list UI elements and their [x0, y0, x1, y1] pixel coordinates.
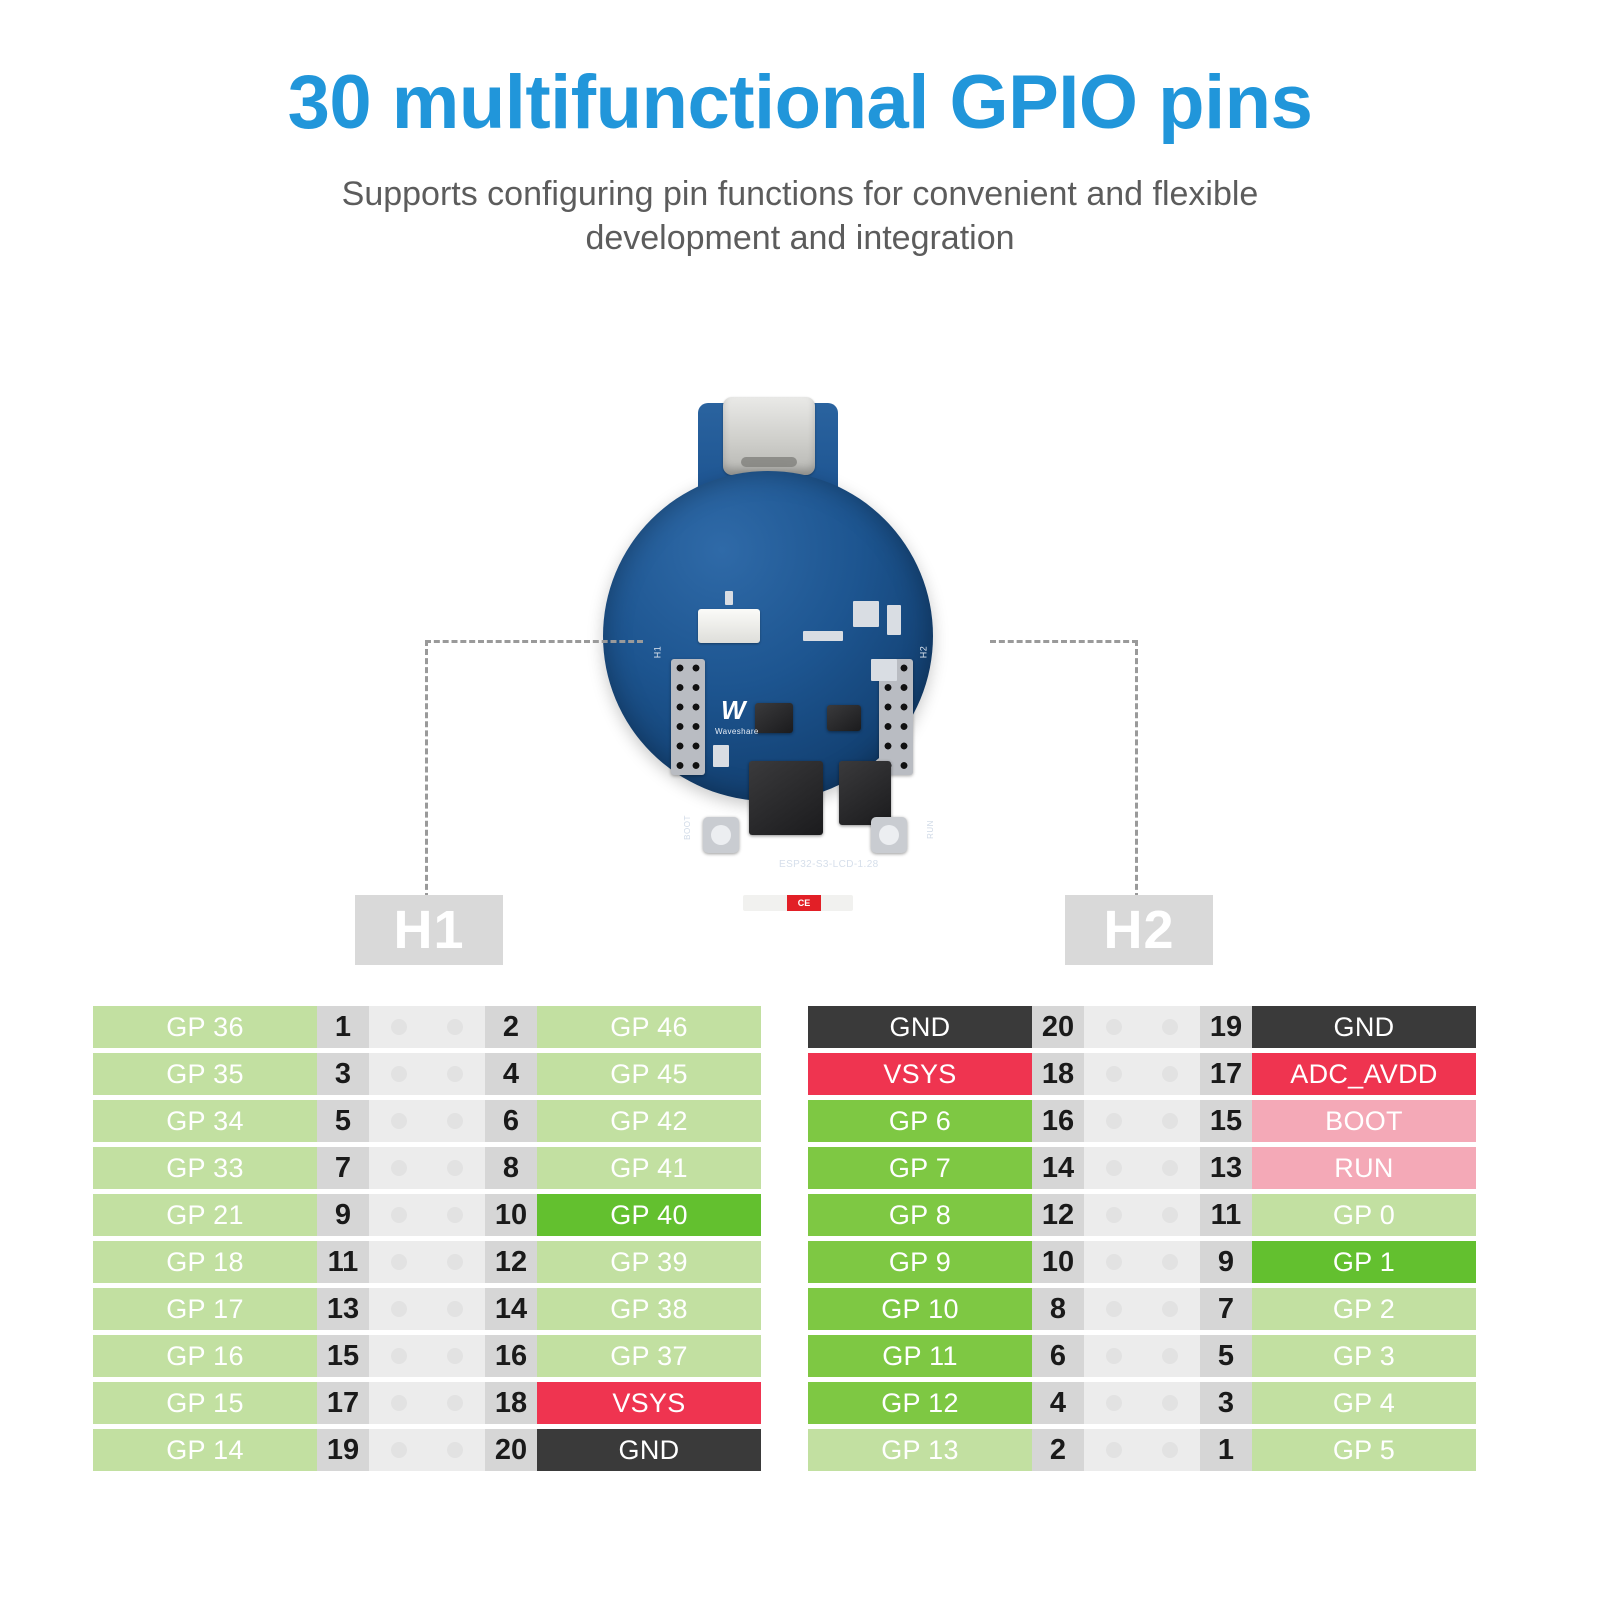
pin-header-strip: [1084, 1194, 1200, 1236]
silkscreen-model-name: ESP32-S3-LCD-1.28: [779, 859, 879, 870]
pin-label-left: GP 6: [808, 1100, 1032, 1142]
header-h1-pins: [671, 659, 705, 775]
pin-number-left: 16: [1032, 1100, 1084, 1142]
pin-header-strip: [369, 1147, 485, 1189]
pin-number-left: 18: [1032, 1053, 1084, 1095]
pin-number-right: 11: [1200, 1194, 1252, 1236]
pin-number-left: 13: [317, 1288, 369, 1330]
pin-number-left: 7: [317, 1147, 369, 1189]
pin-label-left: GP 14: [93, 1429, 317, 1471]
smd-part-3: [853, 601, 879, 627]
pin-label-right: GND: [1252, 1006, 1476, 1048]
pin-label-right: GP 40: [537, 1194, 761, 1236]
smd-part-1: [725, 591, 733, 605]
table-row: GP 141920GND: [93, 1429, 761, 1471]
label-h1: H1: [355, 895, 503, 965]
pin-label-right: ADC_AVDD: [1252, 1053, 1476, 1095]
table-row: VSYS1817ADC_AVDD: [808, 1053, 1476, 1095]
pin-label-left: GP 11: [808, 1335, 1032, 1377]
ic-chip-small-a: [755, 703, 793, 733]
silkscreen-run: RUN: [926, 820, 935, 839]
run-button-icon: [871, 817, 907, 853]
silkscreen-h1: H1: [652, 646, 662, 659]
table-row: GP 21910GP 40: [93, 1194, 761, 1236]
pin-label-right: GP 41: [537, 1147, 761, 1189]
pin-number-left: 5: [317, 1100, 369, 1142]
pin-label-left: GP 16: [93, 1335, 317, 1377]
pin-label-left: GP 12: [808, 1382, 1032, 1424]
pin-label-left: GP 33: [93, 1147, 317, 1189]
pin-number-right: 4: [485, 1053, 537, 1095]
pin-number-right: 13: [1200, 1147, 1252, 1189]
pin-header-strip: [369, 1100, 485, 1142]
pin-label-right: GND: [537, 1429, 761, 1471]
silkscreen-boot: BOOT: [683, 815, 692, 840]
connector-line-h1: [425, 640, 643, 908]
pin-number-left: 9: [317, 1194, 369, 1236]
pin-number-right: 6: [485, 1100, 537, 1142]
table-row: GP 1243GP 4: [808, 1382, 1476, 1424]
table-row: GP 9109GP 1: [808, 1241, 1476, 1283]
table-row: GP 3456GP 42: [93, 1100, 761, 1142]
pin-number-left: 12: [1032, 1194, 1084, 1236]
pin-number-right: 3: [1200, 1382, 1252, 1424]
waveshare-logo-text: Waveshare: [715, 727, 759, 736]
pin-header-strip: [369, 1335, 485, 1377]
flash-chip: [839, 761, 891, 825]
pin-number-right: 19: [1200, 1006, 1252, 1048]
pin-number-right: 9: [1200, 1241, 1252, 1283]
table-row: GP 1087GP 2: [808, 1288, 1476, 1330]
table-row: GP 161516GP 37: [93, 1335, 761, 1377]
pin-number-right: 14: [485, 1288, 537, 1330]
pin-label-left: GP 7: [808, 1147, 1032, 1189]
pin-label-right: GP 0: [1252, 1194, 1476, 1236]
pin-label-right: GP 39: [537, 1241, 761, 1283]
pin-number-right: 8: [485, 1147, 537, 1189]
smd-part-2: [803, 631, 843, 641]
pin-label-left: GP 18: [93, 1241, 317, 1283]
table-row: GND2019GND: [808, 1006, 1476, 1048]
pin-number-left: 10: [1032, 1241, 1084, 1283]
pin-number-right: 1: [1200, 1429, 1252, 1471]
pin-label-right: GP 5: [1252, 1429, 1476, 1471]
ic-chip-small-b: [827, 705, 861, 731]
pin-number-left: 1: [317, 1006, 369, 1048]
pin-label-right: VSYS: [537, 1382, 761, 1424]
table-row: GP 3378GP 41: [93, 1147, 761, 1189]
table-row: GP 1321GP 5: [808, 1429, 1476, 1471]
pin-label-left: GP 10: [808, 1288, 1032, 1330]
silkscreen-h2: H2: [918, 646, 928, 659]
table-row: GP 61615BOOT: [808, 1100, 1476, 1142]
ce-mark-icon: CE: [787, 895, 821, 911]
pin-number-right: 12: [485, 1241, 537, 1283]
pin-header-strip: [1084, 1335, 1200, 1377]
pin-label-right: RUN: [1252, 1147, 1476, 1189]
table-row: GP 3612GP 46: [93, 1006, 761, 1048]
pin-label-left: GP 13: [808, 1429, 1032, 1471]
pin-label-left: GP 21: [93, 1194, 317, 1236]
pin-number-left: 2: [1032, 1429, 1084, 1471]
table-row: GP 171314GP 38: [93, 1288, 761, 1330]
pinout-table-h1: GP 3612GP 46GP 3534GP 45GP 3456GP 42GP 3…: [93, 1006, 761, 1471]
pin-header-strip: [369, 1006, 485, 1048]
pin-label-right: GP 2: [1252, 1288, 1476, 1330]
pin-label-right: GP 1: [1252, 1241, 1476, 1283]
pin-number-right: 7: [1200, 1288, 1252, 1330]
pin-number-left: 17: [317, 1382, 369, 1424]
table-row: GP 71413RUN: [808, 1147, 1476, 1189]
pinout-table-h2: GND2019GNDVSYS1817ADC_AVDDGP 61615BOOTGP…: [808, 1006, 1476, 1471]
pin-header-strip: [1084, 1006, 1200, 1048]
pin-header-strip: [369, 1194, 485, 1236]
pin-label-right: GP 46: [537, 1006, 761, 1048]
pin-number-left: 6: [1032, 1335, 1084, 1377]
pin-header-strip: [1084, 1382, 1200, 1424]
pin-label-right: GP 37: [537, 1335, 761, 1377]
pin-label-right: GP 3: [1252, 1335, 1476, 1377]
pin-number-left: 15: [317, 1335, 369, 1377]
pin-number-left: 8: [1032, 1288, 1084, 1330]
pin-number-right: 10: [485, 1194, 537, 1236]
pin-number-right: 16: [485, 1335, 537, 1377]
pin-label-right: GP 4: [1252, 1382, 1476, 1424]
pin-label-left: VSYS: [808, 1053, 1032, 1095]
pcb-disc: H1 H2 BOOT RUN W Waveshare ESP32-S3-LCD-…: [603, 471, 933, 801]
pin-number-right: 15: [1200, 1100, 1252, 1142]
battery-connector-icon: [698, 609, 760, 643]
pin-number-right: 2: [485, 1006, 537, 1048]
smd-part-5: [871, 659, 897, 681]
pin-number-right: 5: [1200, 1335, 1252, 1377]
esp32-module-chip: [749, 761, 823, 835]
pin-header-strip: [1084, 1147, 1200, 1189]
pin-number-left: 3: [317, 1053, 369, 1095]
pin-number-right: 20: [485, 1429, 537, 1471]
boot-button-icon: [703, 817, 739, 853]
table-row: GP 151718VSYS: [93, 1382, 761, 1424]
page-title: 30 multifunctional GPIO pins: [0, 0, 1600, 144]
usb-c-connector-icon: [723, 397, 815, 475]
pin-header-strip: [1084, 1053, 1200, 1095]
pin-header-strip: [369, 1241, 485, 1283]
pin-header-strip: [369, 1053, 485, 1095]
table-row: GP 81211GP 0: [808, 1194, 1476, 1236]
table-row: GP 3534GP 45: [93, 1053, 761, 1095]
pin-label-left: GP 35: [93, 1053, 317, 1095]
pin-label-left: GP 17: [93, 1288, 317, 1330]
pin-header-strip: [369, 1288, 485, 1330]
cert-strip: CE: [743, 895, 853, 911]
pin-label-left: GP 36: [93, 1006, 317, 1048]
pin-label-right: GP 38: [537, 1288, 761, 1330]
header-section: 30 multifunctional GPIO pins Supports co…: [0, 0, 1600, 260]
pin-label-left: GP 8: [808, 1194, 1032, 1236]
pin-label-left: GP 9: [808, 1241, 1032, 1283]
table-row: GP 1165GP 3: [808, 1335, 1476, 1377]
pin-number-left: 14: [1032, 1147, 1084, 1189]
waveshare-logo-icon: W: [721, 697, 746, 723]
pin-label-left: GP 34: [93, 1100, 317, 1142]
label-h2: H2: [1065, 895, 1213, 965]
pin-number-left: 11: [317, 1241, 369, 1283]
pin-header-strip: [1084, 1241, 1200, 1283]
smd-part-6: [713, 745, 729, 767]
pin-number-right: 17: [1200, 1053, 1252, 1095]
page-subtitle: Supports configuring pin functions for c…: [240, 144, 1360, 260]
pin-label-right: GP 45: [537, 1053, 761, 1095]
pin-header-strip: [1084, 1288, 1200, 1330]
pin-label-right: GP 42: [537, 1100, 761, 1142]
pin-label-left: GP 15: [93, 1382, 317, 1424]
smd-part-4: [887, 605, 901, 635]
pin-number-left: 20: [1032, 1006, 1084, 1048]
pin-label-right: BOOT: [1252, 1100, 1476, 1142]
pin-header-strip: [369, 1382, 485, 1424]
pin-number-left: 19: [317, 1429, 369, 1471]
connector-line-h2: [990, 640, 1138, 908]
pin-header-strip: [369, 1429, 485, 1471]
pin-header-strip: [1084, 1100, 1200, 1142]
pin-label-left: GND: [808, 1006, 1032, 1048]
pin-number-right: 18: [485, 1382, 537, 1424]
table-row: GP 181112GP 39: [93, 1241, 761, 1283]
pin-header-strip: [1084, 1429, 1200, 1471]
pin-number-left: 4: [1032, 1382, 1084, 1424]
